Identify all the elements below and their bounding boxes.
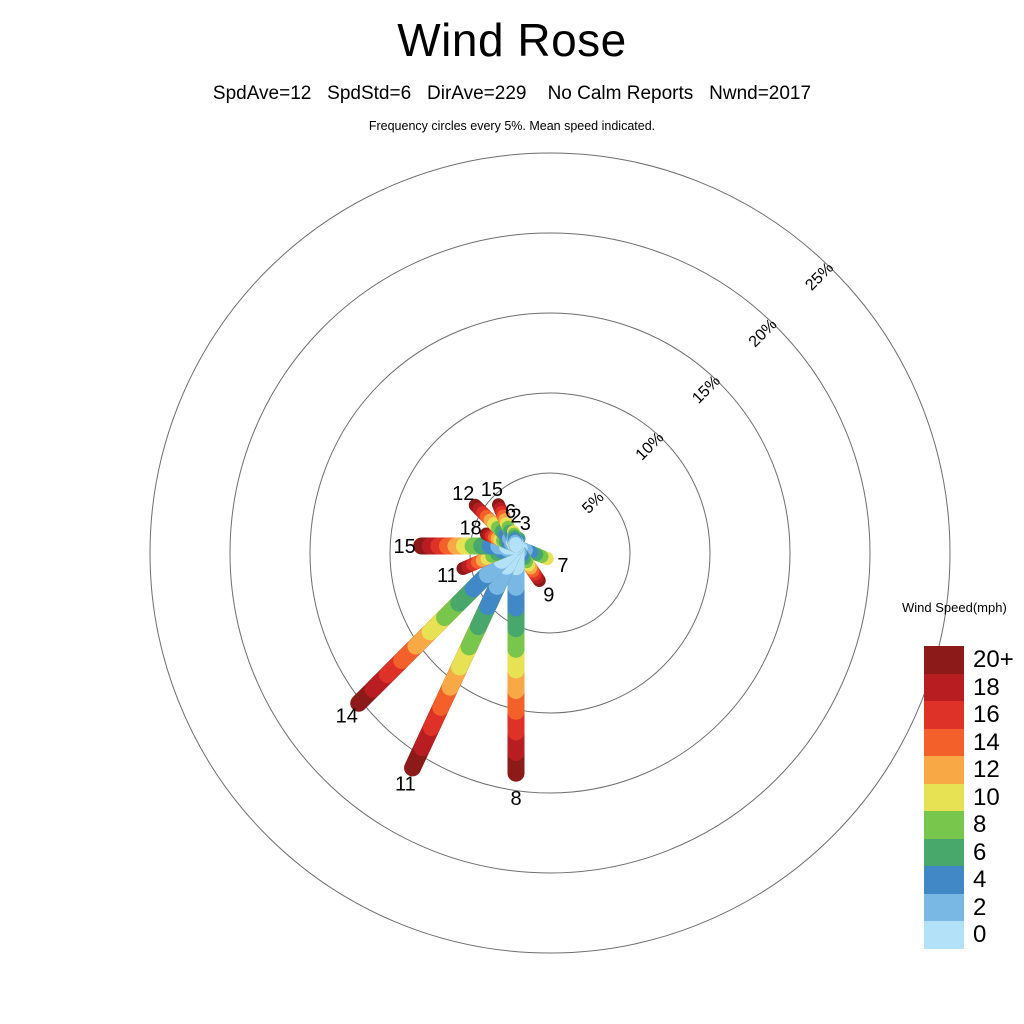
legend-label: 8: [973, 811, 1024, 839]
legend-row: 8: [924, 811, 1024, 839]
legend-label: 14: [973, 729, 1024, 757]
legend-row: 4: [924, 866, 1024, 894]
radial-tick-label: 10%: [633, 429, 668, 464]
legend-color-swatch: [924, 894, 964, 922]
petal-mean-speed-label: 7: [557, 555, 568, 577]
petal-mean-speed-label: 15: [481, 479, 503, 501]
petal-group: [359, 505, 547, 773]
legend-color-swatch: [924, 756, 964, 784]
legend-label: 16: [973, 701, 1024, 729]
radial-tick-label: 20%: [746, 316, 781, 351]
petal-mean-speed-label: 3: [520, 513, 531, 535]
legend-title: Wind Speed(mph): [902, 600, 1024, 616]
legend-label: 18: [973, 674, 1024, 702]
petal-mean-speed-label: 12: [452, 483, 474, 505]
legend-row: 2: [924, 894, 1024, 922]
petal-mean-speed-label: 6: [505, 501, 516, 523]
petal-mean-speed-label: 11: [437, 565, 458, 587]
legend-rows: 20+181614121086420: [924, 646, 1024, 949]
legend-row: 20+: [924, 646, 1024, 674]
petal-mean-speed-label: 15: [393, 536, 415, 558]
legend-color-swatch: [924, 701, 964, 729]
legend-color-swatch: [924, 921, 964, 949]
petal-mean-speed-label: 8: [510, 788, 521, 810]
legend-label: 2: [973, 894, 1024, 922]
wind-rose-figure: Wind Rose SpdAve=12 SpdStd=6 DirAve=229 …: [0, 0, 1024, 1024]
petal-mean-speed-label: 11: [395, 773, 416, 795]
legend-row: 16: [924, 701, 1024, 729]
petal-mean-speed-label: 14: [336, 705, 358, 727]
legend-row: 10: [924, 784, 1024, 812]
legend-label: 10: [973, 784, 1024, 812]
radial-tick-labels: 5%10%15%20%25%: [579, 260, 837, 518]
legend-color-swatch: [924, 811, 964, 839]
petal-mean-speed-label: 18: [459, 518, 481, 540]
legend-row: 12: [924, 756, 1024, 784]
legend-row: 18: [924, 674, 1024, 702]
legend: Wind Speed(mph) 20+181614121086420: [900, 600, 1024, 646]
legend-label: 6: [973, 839, 1024, 867]
legend-color-swatch: [924, 839, 964, 867]
legend-color-swatch: [924, 646, 964, 674]
legend-label: 4: [973, 866, 1024, 894]
polar-plot: 5%10%15%20%25% 23798111411151812156: [0, 0, 1024, 1024]
legend-label: 0: [973, 921, 1024, 949]
legend-color-swatch: [924, 866, 964, 894]
radial-tick-label: 25%: [802, 260, 837, 295]
radial-tick-label: 15%: [689, 373, 724, 408]
legend-color-swatch: [924, 729, 964, 757]
legend-color-swatch: [924, 784, 964, 812]
legend-row: 14: [924, 729, 1024, 757]
legend-label: 12: [973, 756, 1024, 784]
legend-row: 6: [924, 839, 1024, 867]
legend-color-swatch: [924, 674, 964, 702]
petal-mean-speed-label: 9: [543, 585, 554, 607]
legend-row: 0: [924, 921, 1024, 949]
legend-label: 20+: [973, 646, 1024, 674]
petal-mean-speed-labels: 23798111411151812156: [336, 479, 569, 810]
